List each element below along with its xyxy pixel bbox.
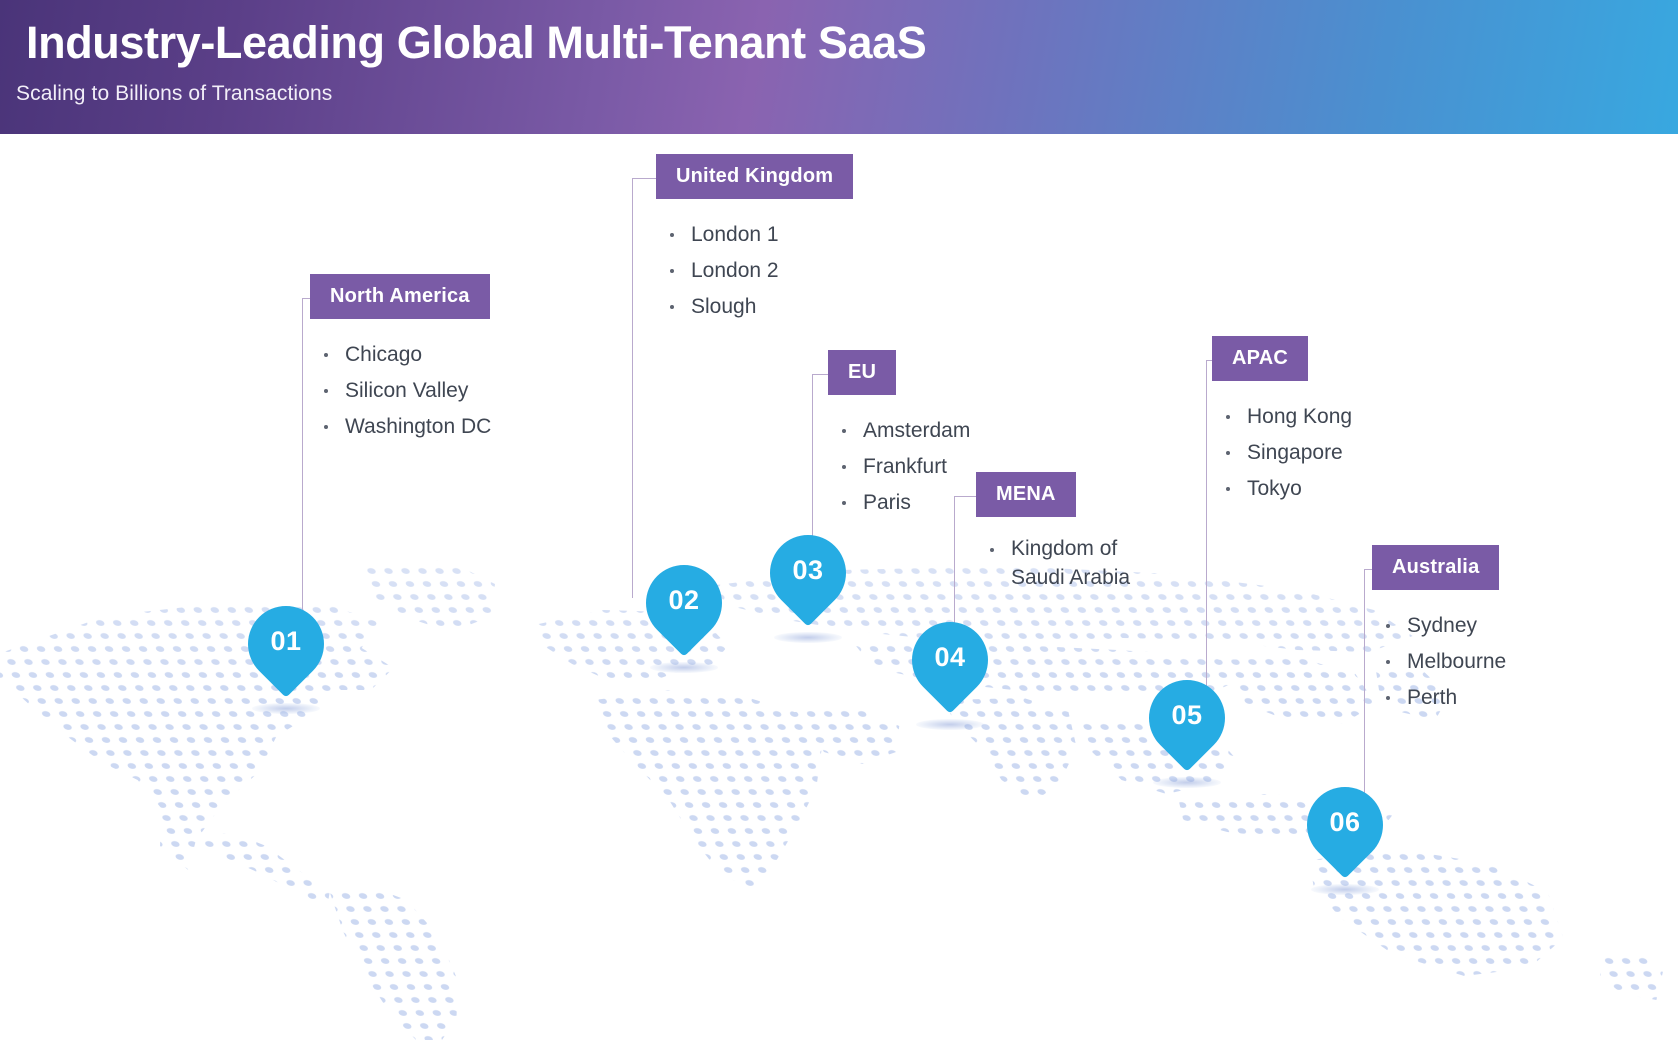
- list-item: Tokyo: [1226, 471, 1352, 507]
- map-pin-03[interactable]: 03: [770, 535, 846, 639]
- region-north-america: North America Chicago Silicon Valley Was…: [310, 274, 491, 445]
- region-apac: APAC Hong Kong Singapore Tokyo: [1212, 336, 1352, 507]
- region-badge-australia[interactable]: Australia: [1372, 545, 1499, 590]
- pin-shadow: [1311, 884, 1379, 895]
- list-item: Hong Kong: [1226, 399, 1352, 435]
- region-eu: EU Amsterdam Frankfurt Paris: [828, 350, 970, 521]
- list-item: Chicago: [324, 337, 491, 373]
- slide-header: Industry-Leading Global Multi-Tenant Saa…: [0, 0, 1678, 134]
- pin-number: 06: [1307, 807, 1383, 838]
- region-australia: Australia Sydney Melbourne Perth: [1372, 545, 1506, 716]
- pin-number: 03: [770, 555, 846, 586]
- region-united-kingdom: United Kingdom London 1 London 2 Slough: [656, 154, 853, 325]
- pin-shadow: [916, 719, 984, 730]
- region-list-united-kingdom: London 1 London 2 Slough: [656, 217, 853, 325]
- map-pin-05[interactable]: 05: [1149, 680, 1225, 784]
- map-pin-01[interactable]: 01: [248, 606, 324, 710]
- map-pin-06[interactable]: 06: [1307, 787, 1383, 891]
- pin-number: 04: [912, 642, 988, 673]
- list-item: Slough: [670, 289, 853, 325]
- list-item: London 1: [670, 217, 853, 253]
- pin-number: 02: [646, 585, 722, 616]
- pin-shadow: [252, 703, 320, 714]
- region-list-north-america: Chicago Silicon Valley Washington DC: [310, 337, 491, 445]
- map-pin-02[interactable]: 02: [646, 565, 722, 669]
- region-badge-north-america[interactable]: North America: [310, 274, 490, 319]
- region-list-australia: Sydney Melbourne Perth: [1372, 608, 1506, 716]
- list-item: Amsterdam: [842, 413, 970, 449]
- pin-number: 05: [1149, 700, 1225, 731]
- region-badge-united-kingdom[interactable]: United Kingdom: [656, 154, 853, 199]
- list-item: Washington DC: [324, 409, 491, 445]
- region-badge-eu[interactable]: EU: [828, 350, 896, 395]
- map-pin-04[interactable]: 04: [912, 622, 988, 726]
- pin-shadow: [650, 662, 718, 673]
- list-item: Perth: [1386, 680, 1506, 716]
- list-item: Sydney: [1386, 608, 1506, 644]
- page-title: Industry-Leading Global Multi-Tenant Saa…: [26, 17, 926, 69]
- region-mena: MENA Kingdom of Saudi Arabia: [976, 472, 1130, 593]
- region-list-mena: Kingdom of Saudi Arabia: [976, 535, 1130, 593]
- region-badge-mena[interactable]: MENA: [976, 472, 1076, 517]
- list-item: Singapore: [1226, 435, 1352, 471]
- region-badge-apac[interactable]: APAC: [1212, 336, 1308, 381]
- list-item: Silicon Valley: [324, 373, 491, 409]
- list-item: Melbourne: [1386, 644, 1506, 680]
- pin-shadow: [774, 632, 842, 643]
- list-item: Paris: [842, 485, 970, 521]
- region-list-eu: Amsterdam Frankfurt Paris: [828, 413, 970, 521]
- list-item: London 2: [670, 253, 853, 289]
- pin-shadow: [1153, 777, 1221, 788]
- list-item: Frankfurt: [842, 449, 970, 485]
- list-item: Kingdom of Saudi Arabia: [990, 535, 1130, 593]
- slide-root: Industry-Leading Global Multi-Tenant Saa…: [0, 0, 1678, 1044]
- page-subtitle: Scaling to Billions of Transactions: [16, 82, 332, 106]
- pin-number: 01: [248, 626, 324, 657]
- region-list-apac: Hong Kong Singapore Tokyo: [1212, 399, 1352, 507]
